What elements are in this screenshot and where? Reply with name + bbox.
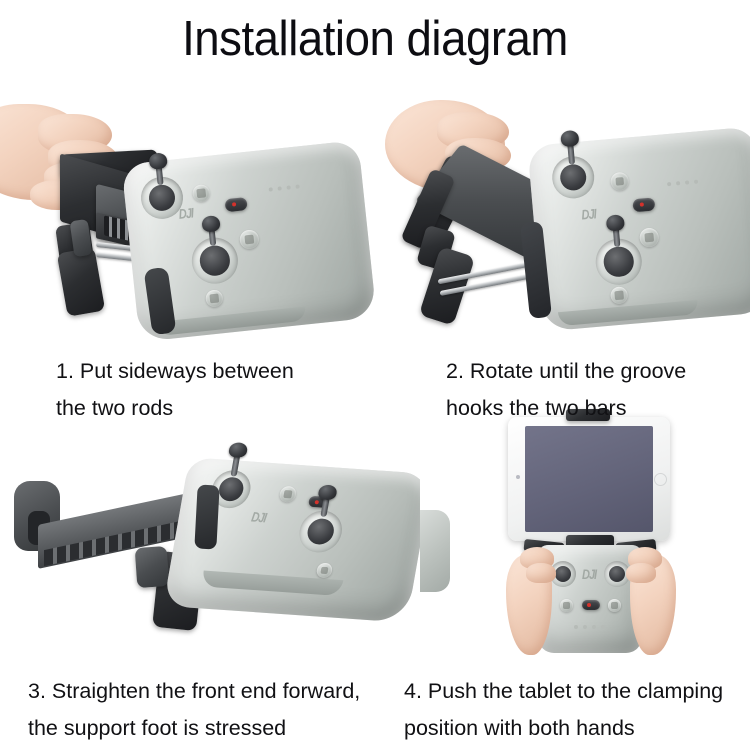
step-4-caption: 4. Push the tablet to the clamping posit… [404, 673, 723, 747]
remote-controller-step2: DJI [527, 126, 750, 331]
right-button-step4 [608, 599, 621, 612]
mount-hinge-step3 [135, 546, 170, 588]
mode-switch-step2 [632, 197, 655, 212]
joystick-left-step2 [550, 155, 596, 201]
step-4-photo: DJI [420, 395, 750, 667]
dji-logo-step2: DJI [581, 207, 596, 223]
step-2-photo: DJI [375, 100, 750, 348]
tablet-camera-icon [516, 475, 520, 479]
mode-switch-step1 [225, 197, 248, 212]
joystick-right-step2 [594, 237, 644, 287]
power-button-step2 [610, 172, 630, 192]
tablet-home-button [654, 473, 667, 486]
step-1-caption: 1. Put sideways between the two rods [56, 353, 294, 427]
step-1-photo: DJI [0, 100, 375, 348]
record-button-step2 [610, 286, 628, 304]
dji-logo-step3: DJI [250, 510, 267, 526]
power-button-step3 [279, 486, 298, 503]
mode-switch-step4 [582, 600, 600, 610]
controller-bottom-edge-step1 [156, 306, 307, 336]
step-3-caption: 3. Straighten the front end forward, the… [28, 673, 360, 747]
led-indicators-step2 [667, 180, 698, 187]
record-button-step1 [205, 289, 224, 308]
installation-diagram-page: Installation diagram [0, 0, 750, 750]
page-title: Installation diagram [26, 8, 724, 70]
led-indicators-step4 [574, 625, 605, 629]
power-button-step1 [192, 184, 211, 203]
support-foot-step1 [57, 247, 106, 317]
joystick-right-step3 [296, 509, 345, 554]
tablet-step4 [508, 417, 670, 541]
left-button-step4 [560, 599, 573, 612]
return-home-button-step1 [239, 229, 260, 250]
carry-case-edge [420, 510, 450, 592]
tablet-screen [525, 426, 653, 532]
controller-bottom-edge-step2 [558, 300, 699, 326]
step-3-photo: DJI [0, 425, 420, 667]
led-indicators-step1 [269, 184, 300, 191]
joystick-right-step1 [190, 235, 241, 286]
step-2-caption: 2. Rotate until the groove hooks the two… [446, 353, 686, 427]
return-home-button-step2 [639, 227, 660, 248]
controller-grip-step3 [194, 484, 219, 549]
record-button-step3 [316, 562, 334, 578]
dji-logo-step4: DJI [582, 568, 596, 583]
dji-logo-step1: DJI [178, 206, 194, 222]
